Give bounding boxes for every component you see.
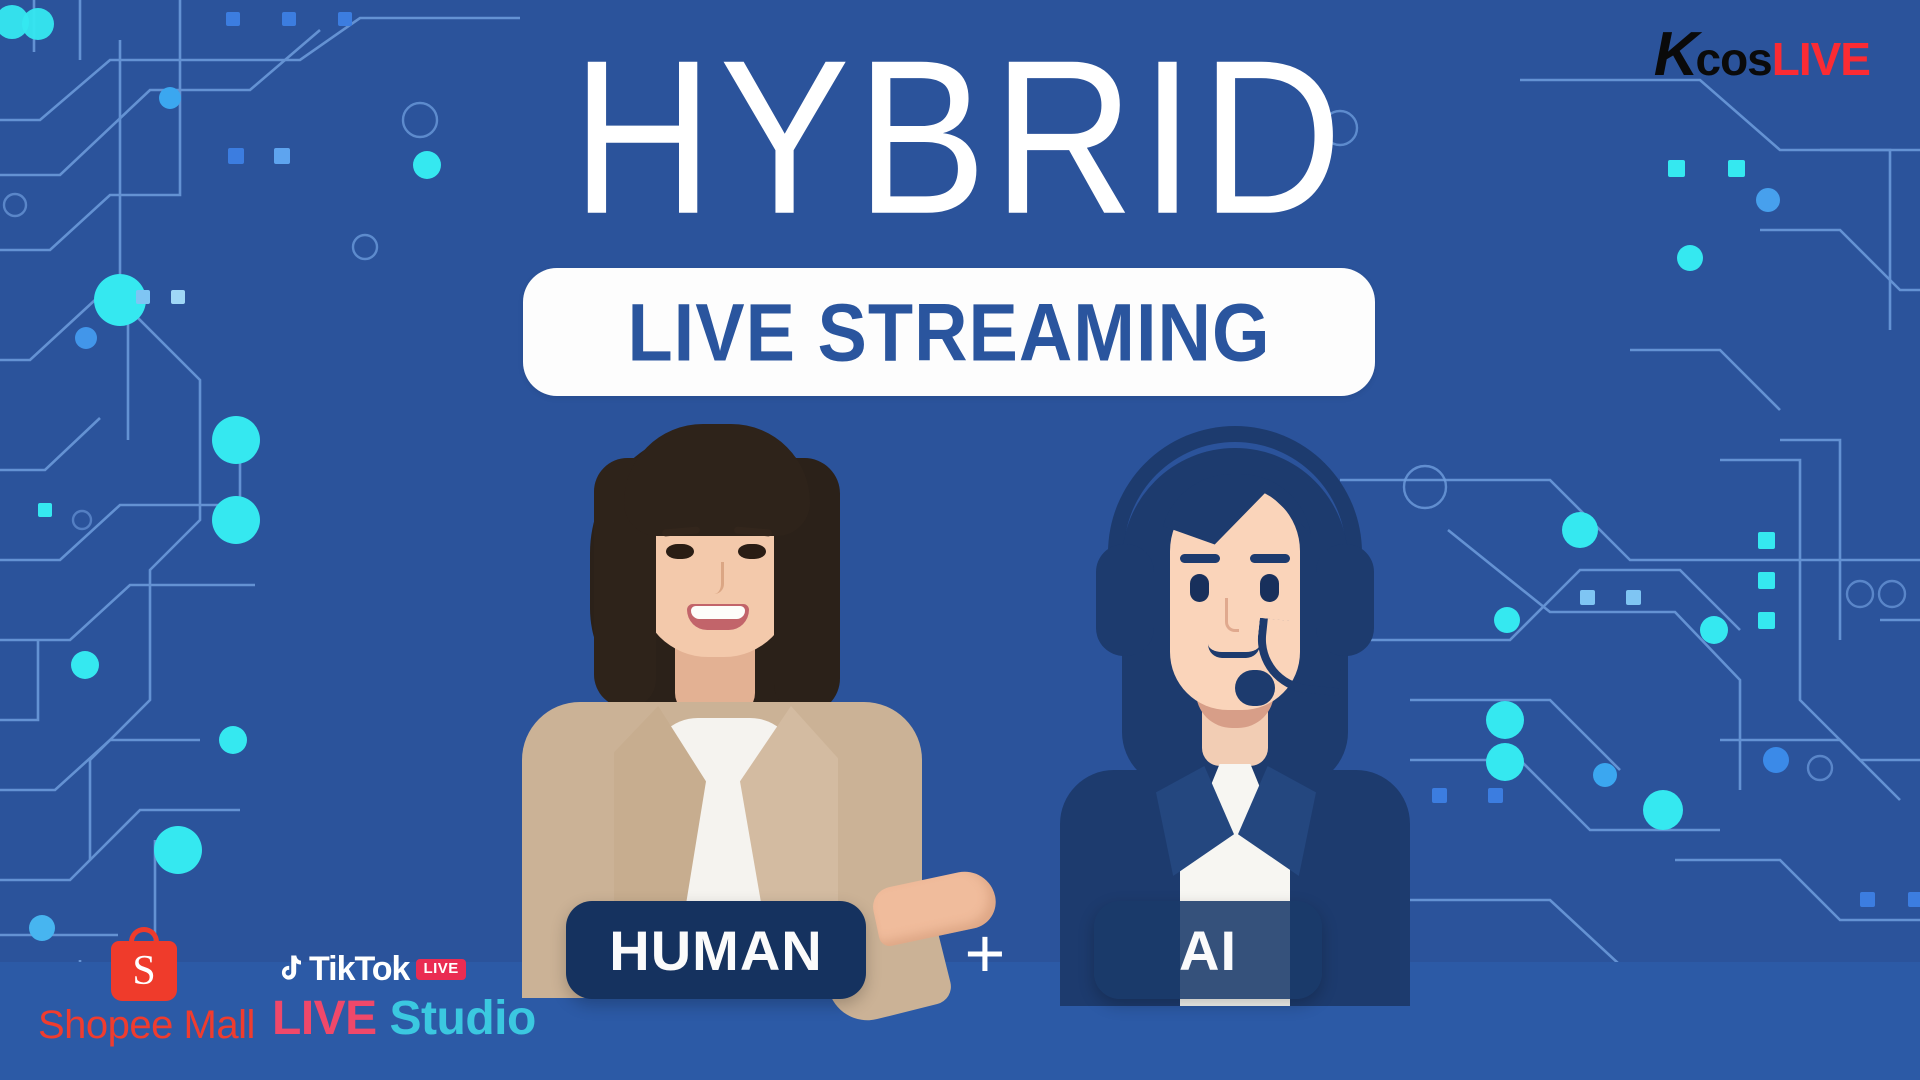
live-studio-wordmark: LIVE Studio xyxy=(272,991,518,1046)
shopee-mall-label: Shopee Mall xyxy=(38,1003,250,1048)
human-mouth xyxy=(687,604,749,630)
ai-nose xyxy=(1225,598,1239,632)
poster-canvas: K cos LIVE HYBRID LIVE STREAMING xyxy=(0,0,1920,1080)
subtitle-text: LIVE STREAMING xyxy=(627,285,1270,379)
shopping-bag-icon: S xyxy=(111,941,177,1001)
microphone-icon xyxy=(1235,670,1275,706)
badge-ai: AI xyxy=(1094,901,1322,999)
live-word: LIVE xyxy=(272,992,377,1045)
ai-mouth xyxy=(1208,644,1260,658)
ai-eye-left xyxy=(1190,574,1209,602)
badge-ai-label: AI xyxy=(1179,918,1237,983)
page-title: HYBRID xyxy=(0,28,1920,248)
tiktok-live-badge: LIVE xyxy=(416,959,465,980)
headset-earcup-left-icon xyxy=(1096,544,1154,656)
human-teeth xyxy=(691,606,745,619)
human-nose xyxy=(706,562,724,594)
human-eye-left xyxy=(666,544,694,559)
ai-eye-right xyxy=(1260,574,1279,602)
badge-human: HUMAN xyxy=(566,901,866,999)
subtitle-pill: LIVE STREAMING xyxy=(523,268,1375,396)
human-eye-right xyxy=(738,544,766,559)
ai-eyebrow-right xyxy=(1250,554,1290,563)
plus-separator: + xyxy=(955,925,1015,985)
human-hair-top xyxy=(624,424,810,536)
shopping-bag-handle-icon xyxy=(129,927,159,949)
tiktok-wordmark: TikTok xyxy=(309,950,409,989)
shopee-mark-letter: S xyxy=(111,947,177,995)
studio-word: Studio xyxy=(390,992,536,1045)
tiktok-wordmark-row: TikTok LIVE xyxy=(276,950,518,989)
tiktok-live-studio-logo: TikTok LIVE LIVE Studio xyxy=(272,950,518,1048)
tiktok-note-icon xyxy=(276,955,302,985)
shopee-mall-logo: S Shopee Mall xyxy=(38,941,250,1048)
ai-eyebrow-left xyxy=(1180,554,1220,563)
partner-logos: S Shopee Mall TikTok LIVE LIVE Studio xyxy=(38,941,518,1048)
badge-human-label: HUMAN xyxy=(609,918,822,983)
